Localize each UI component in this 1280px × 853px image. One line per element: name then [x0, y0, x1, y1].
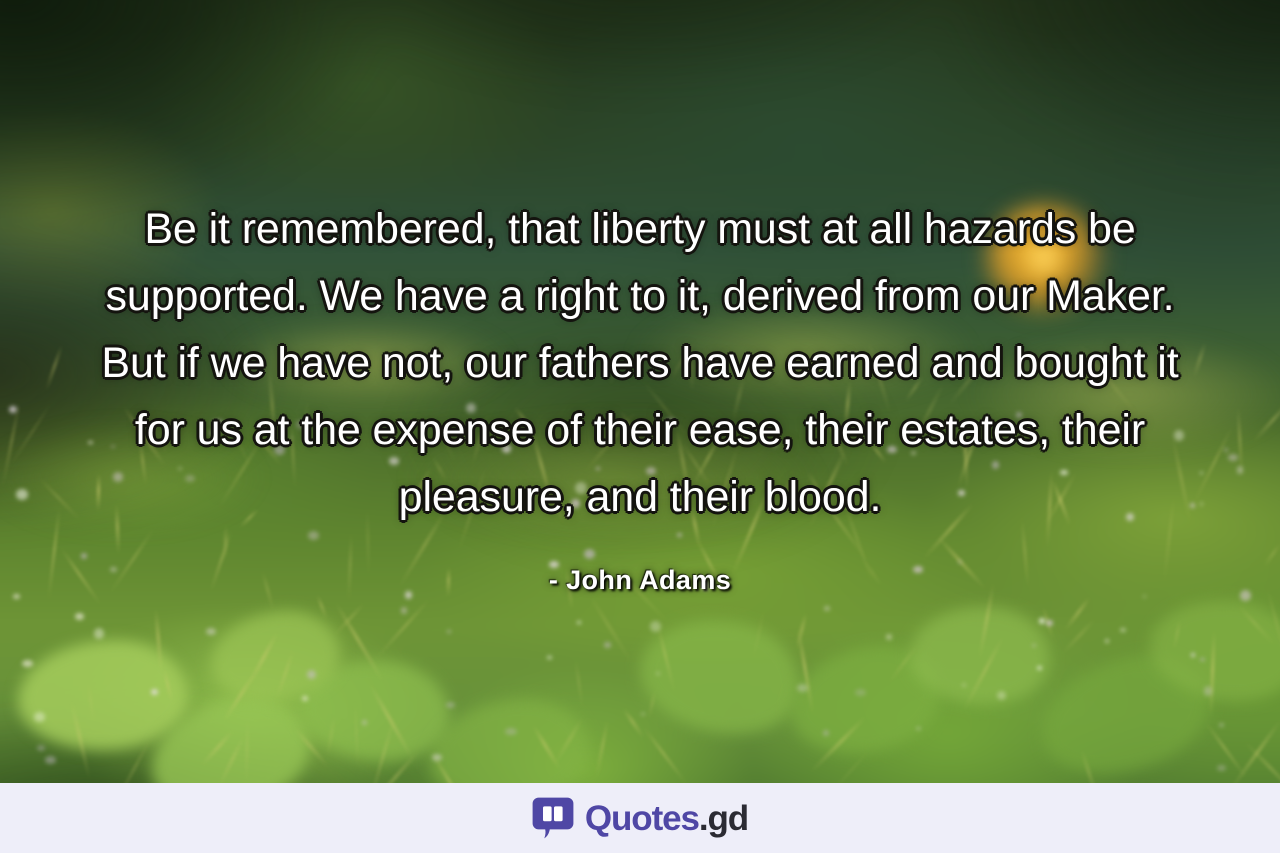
quote-bubble-icon	[532, 797, 574, 839]
moss-flower-speck	[1046, 620, 1052, 627]
moss-flower-speck	[45, 756, 56, 764]
moss-flower-speck	[37, 745, 45, 751]
quote-card: Be it remembered, that liberty must at a…	[0, 0, 1280, 853]
moss-flower-speck	[604, 642, 611, 648]
moss-flower-speck	[94, 628, 104, 638]
moss-flower-speck	[797, 684, 808, 692]
moss-flower-speck	[547, 656, 551, 659]
moss-flower-speck	[1032, 644, 1036, 648]
moss-flower-speck	[1120, 628, 1126, 632]
moss-flower-speck	[432, 754, 442, 761]
moss-flower-speck	[447, 630, 451, 633]
moss-flower-speck	[1039, 618, 1045, 623]
moss-flower-speck	[1191, 653, 1195, 656]
moss-flower-speck	[855, 689, 866, 696]
quote-block: Be it remembered, that liberty must at a…	[0, 196, 1280, 596]
moss-flower-speck	[307, 670, 316, 679]
brand-name: Quotes	[585, 799, 699, 838]
moss-flower-speck	[1204, 686, 1213, 695]
moss-flower-speck	[650, 621, 661, 633]
moss-flower-speck	[886, 634, 892, 640]
brand-tld: .gd	[699, 799, 748, 838]
moss-flower-speck	[401, 607, 407, 613]
moss-flower-speck	[206, 628, 216, 635]
quote-text: Be it remembered, that liberty must at a…	[100, 196, 1180, 531]
brand-wordmark: Quotes.gd	[585, 801, 748, 836]
brand-logo-link[interactable]: Quotes.gd	[532, 797, 748, 839]
moss-flower-speck	[362, 720, 367, 725]
quote-author: - John Adams	[100, 565, 1180, 596]
moss-flower-speck	[962, 683, 966, 687]
moss-flower-speck	[1037, 666, 1041, 670]
moss-flower-speck	[1105, 639, 1109, 643]
moss-flower-speck	[75, 613, 84, 620]
moss-flower-speck	[823, 730, 829, 736]
footer-bar: Quotes.gd	[0, 783, 1280, 853]
moss-flower-speck	[34, 712, 45, 721]
